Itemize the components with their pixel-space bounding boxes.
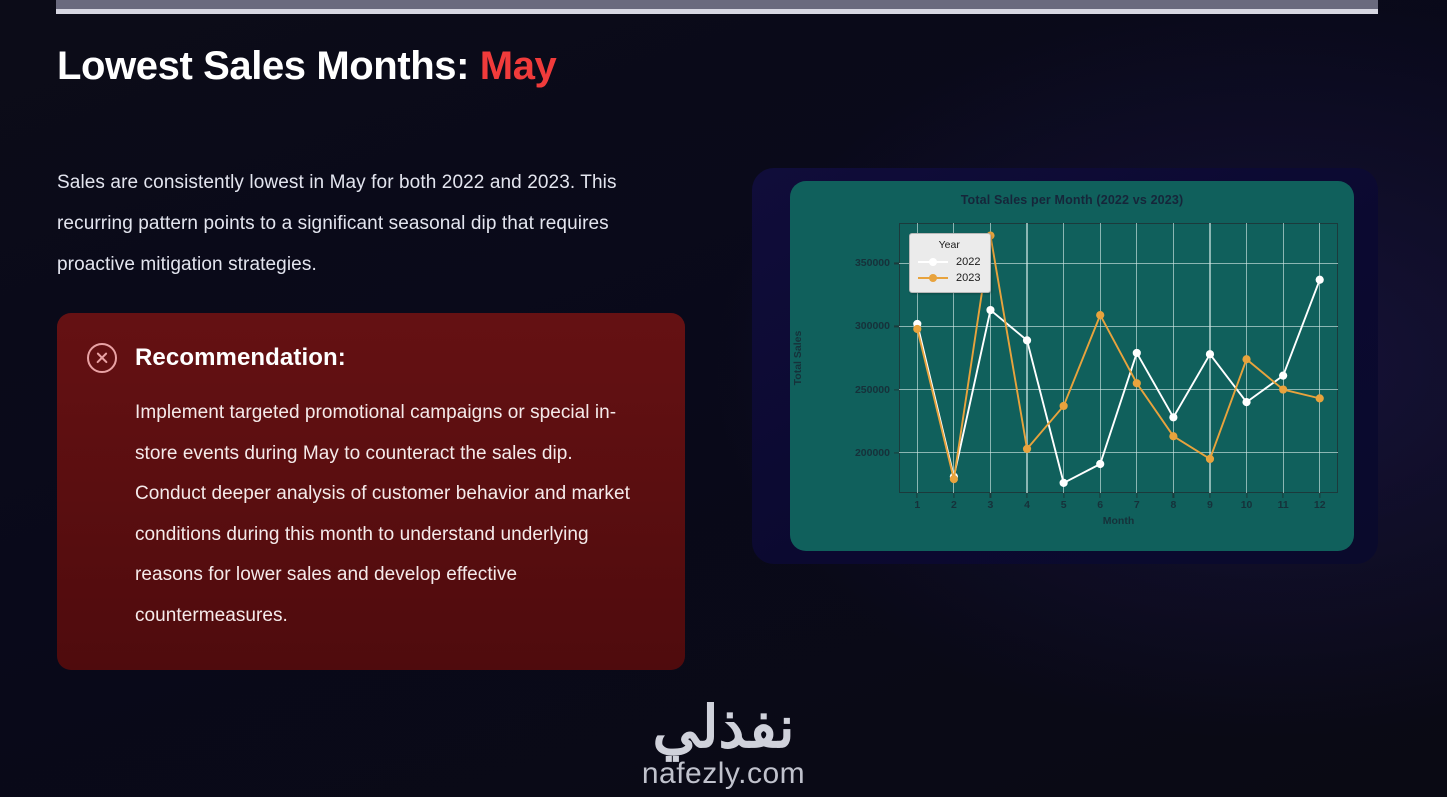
chart-x-tick-mark: [1100, 493, 1101, 498]
chart-x-tick-label: 9: [1207, 499, 1213, 511]
page-title-accent: May: [480, 44, 557, 88]
chart-y-tick-label: 350000: [855, 257, 890, 269]
summary-paragraph: Sales are consistently lowest in May for…: [57, 162, 657, 285]
chart-x-tick-mark: [990, 493, 991, 498]
chart-legend: Year 20222023: [909, 233, 991, 293]
recommendation-body: Implement targeted promotional campaigns…: [87, 393, 632, 636]
chart-gridline-horizontal: [899, 452, 1338, 453]
watermark: نفذلي nafezly.com: [642, 699, 805, 789]
chart-x-tick-label: 7: [1134, 499, 1140, 511]
chart-y-tick-label: 200000: [855, 447, 890, 459]
chart-x-tick-mark: [1063, 493, 1064, 498]
top-scrollbar[interactable]: [56, 0, 1378, 14]
legend-item[interactable]: 2022: [918, 254, 980, 270]
chart-gridline-vertical: [1136, 223, 1137, 493]
chart-x-tick-mark: [1136, 493, 1137, 498]
legend-item-label: 2023: [956, 272, 980, 284]
slide-root: Lowest Sales Months: May Sales are consi…: [0, 0, 1447, 797]
legend-swatch-icon: [918, 272, 948, 284]
chart-x-tick-label: 11: [1278, 499, 1289, 511]
chart-x-tick-label: 1: [914, 499, 920, 511]
chart-x-tick-mark: [917, 493, 918, 498]
chart-x-tick-mark: [1173, 493, 1174, 498]
chart-gridline-vertical: [1209, 223, 1210, 493]
chart-y-tick-mark: [894, 452, 899, 453]
scrollbar-track[interactable]: [56, 0, 1378, 9]
chart-x-tick-mark: [1246, 493, 1247, 498]
chart-x-tick-mark: [953, 493, 954, 498]
recommendation-title: Recommendation:: [135, 344, 346, 372]
chart-x-tick-label: 8: [1170, 499, 1176, 511]
chart-x-tick-mark: [1283, 493, 1284, 498]
chart-y-tick-mark: [894, 326, 899, 327]
chart-x-tick-label: 10: [1241, 499, 1253, 511]
scrollbar-thumb[interactable]: [56, 9, 1378, 14]
chart-x-tick-label: 12: [1314, 499, 1326, 511]
chart-x-axis-label: Month: [899, 515, 1338, 527]
watermark-latin: nafezly.com: [642, 759, 805, 789]
chart-x-tick-label: 2: [951, 499, 957, 511]
chart-gridline-vertical: [1283, 223, 1284, 493]
chart-y-tick-label: 300000: [855, 320, 890, 332]
recommendation-header: Recommendation:: [87, 343, 653, 373]
chart-y-axis-label: Total Sales: [792, 331, 804, 386]
chart-x-tick-label: 3: [988, 499, 994, 511]
chart-gridline-horizontal: [899, 389, 1338, 390]
circle-x-icon: [87, 343, 117, 373]
watermark-arabic: نفذلي: [642, 699, 805, 757]
legend-swatch-icon: [918, 256, 948, 268]
page-title: Lowest Sales Months: May: [57, 42, 556, 90]
chart-gridline-vertical: [1173, 223, 1174, 493]
recommendation-card: Recommendation: Implement targeted promo…: [57, 313, 685, 670]
chart-x-tick-mark: [1319, 493, 1320, 498]
chart-y-tick-mark: [894, 389, 899, 390]
content-column: Sales are consistently lowest in May for…: [57, 162, 685, 670]
chart-y-tick-mark: [894, 263, 899, 264]
page-title-main: Lowest Sales Months:: [57, 44, 469, 88]
chart-x-tick-label: 5: [1061, 499, 1067, 511]
chart-frame: Total Sales per Month (2022 vs 2023) Tot…: [752, 168, 1378, 564]
chart-gridline-vertical: [1319, 223, 1320, 493]
chart-y-tick-label: 250000: [855, 384, 890, 396]
chart-x-tick-mark: [1026, 493, 1027, 498]
legend-title: Year: [918, 239, 980, 251]
legend-item[interactable]: 2023: [918, 270, 980, 286]
chart-x-tick-label: 6: [1097, 499, 1103, 511]
chart-gridline-vertical: [1246, 223, 1247, 493]
chart-title: Total Sales per Month (2022 vs 2023): [790, 193, 1354, 207]
chart-gridline-horizontal: [899, 326, 1338, 327]
chart-x-tick-mark: [1209, 493, 1210, 498]
chart-gridline-vertical: [1026, 223, 1027, 493]
chart-x-tick-label: 4: [1024, 499, 1030, 511]
chart-canvas: Total Sales per Month (2022 vs 2023) Tot…: [790, 181, 1354, 551]
chart-gridline-vertical: [1100, 223, 1101, 493]
legend-rows: 20222023: [918, 254, 980, 286]
chart-gridline-vertical: [1063, 223, 1064, 493]
legend-item-label: 2022: [956, 256, 980, 268]
